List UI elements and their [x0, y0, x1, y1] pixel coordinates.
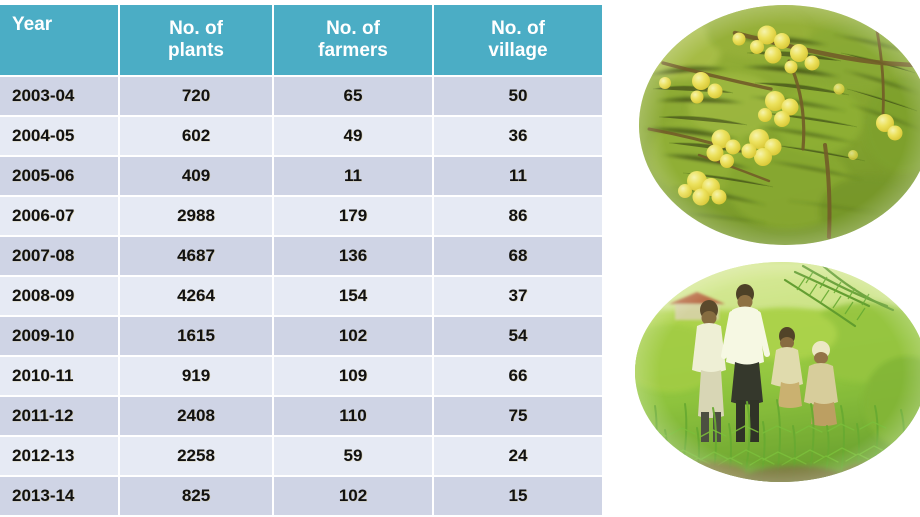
table-row: 2008-09426415437 [0, 277, 602, 317]
cell-plants: 2258 [120, 437, 274, 477]
table-row: 2010-1191910966 [0, 357, 602, 397]
cell-farmers: 179 [274, 197, 434, 237]
table-header: Year No. of plants No. of farmers No. of… [0, 5, 602, 77]
cell-year: 2011-12 [0, 397, 120, 437]
cell-farmers: 154 [274, 277, 434, 317]
nursery-workers-illustration [635, 262, 920, 482]
cell-village: 15 [434, 477, 602, 517]
column-header-plants-line2: plants [168, 40, 224, 61]
table-row: 2007-08468713668 [0, 237, 602, 277]
data-table-container: Year No. of plants No. of farmers No. of… [0, 5, 602, 517]
slide-canvas: Year No. of plants No. of farmers No. of… [0, 0, 920, 509]
cell-farmers: 136 [274, 237, 434, 277]
cell-village: 37 [434, 277, 602, 317]
cell-year: 2012-13 [0, 437, 120, 477]
cell-plants: 409 [120, 157, 274, 197]
cell-village: 66 [434, 357, 602, 397]
cell-year: 2010-11 [0, 357, 120, 397]
cell-year: 2013-14 [0, 477, 120, 517]
column-header-village-line2: village [488, 40, 547, 61]
table-row: 2012-1322585924 [0, 437, 602, 477]
column-header-farmers: No. of farmers [274, 5, 434, 77]
cell-plants: 4687 [120, 237, 274, 277]
cell-year: 2008-09 [0, 277, 120, 317]
amla-tree-illustration [639, 5, 920, 245]
column-header-farmers-line1: No. of [326, 18, 380, 39]
cell-year: 2006-07 [0, 197, 120, 237]
amla-tree-photo [639, 5, 920, 245]
cell-plants: 2408 [120, 397, 274, 437]
cell-plants: 825 [120, 477, 274, 517]
cell-year: 2003-04 [0, 77, 120, 117]
table-row: 2003-047206550 [0, 77, 602, 117]
cell-farmers: 109 [274, 357, 434, 397]
table-row: 2009-10161510254 [0, 317, 602, 357]
cell-plants: 4264 [120, 277, 274, 317]
table-row: 2011-12240811075 [0, 397, 602, 437]
cell-year: 2005-06 [0, 157, 120, 197]
cell-village: 50 [434, 77, 602, 117]
nursery-workers-photo-image [635, 262, 920, 482]
cell-farmers: 49 [274, 117, 434, 157]
cell-farmers: 65 [274, 77, 434, 117]
cell-plants: 720 [120, 77, 274, 117]
cell-farmers: 110 [274, 397, 434, 437]
table-header-row: Year No. of plants No. of farmers No. of… [0, 5, 602, 77]
cell-village: 86 [434, 197, 602, 237]
cell-village: 68 [434, 237, 602, 277]
column-header-year-line1: Year [12, 14, 52, 35]
column-header-village: No. of village [434, 5, 602, 77]
amla-tree-photo-image [639, 5, 920, 245]
cell-year: 2007-08 [0, 237, 120, 277]
column-header-plants-line1: No. of [169, 18, 223, 39]
cell-village: 54 [434, 317, 602, 357]
cell-farmers: 102 [274, 317, 434, 357]
amla-plantation-table: Year No. of plants No. of farmers No. of… [0, 5, 602, 517]
cell-plants: 919 [120, 357, 274, 397]
cell-village: 11 [434, 157, 602, 197]
cell-plants: 2988 [120, 197, 274, 237]
cell-plants: 602 [120, 117, 274, 157]
cell-farmers: 11 [274, 157, 434, 197]
cell-farmers: 59 [274, 437, 434, 477]
column-header-farmers-line2: farmers [318, 40, 388, 61]
nursery-workers-photo [635, 262, 920, 482]
table-row: 2005-064091111 [0, 157, 602, 197]
cell-village: 36 [434, 117, 602, 157]
table-body: 2003-0472065502004-0560249362005-0640911… [0, 77, 602, 517]
cell-village: 75 [434, 397, 602, 437]
cell-year: 2009-10 [0, 317, 120, 357]
column-header-year: Year [0, 5, 120, 77]
cell-farmers: 102 [274, 477, 434, 517]
column-header-plants: No. of plants [120, 5, 274, 77]
table-row: 2013-1482510215 [0, 477, 602, 517]
cell-village: 24 [434, 437, 602, 477]
column-header-village-line1: No. of [491, 18, 545, 39]
cell-year: 2004-05 [0, 117, 120, 157]
table-row: 2004-056024936 [0, 117, 602, 157]
cell-plants: 1615 [120, 317, 274, 357]
table-row: 2006-07298817986 [0, 197, 602, 237]
